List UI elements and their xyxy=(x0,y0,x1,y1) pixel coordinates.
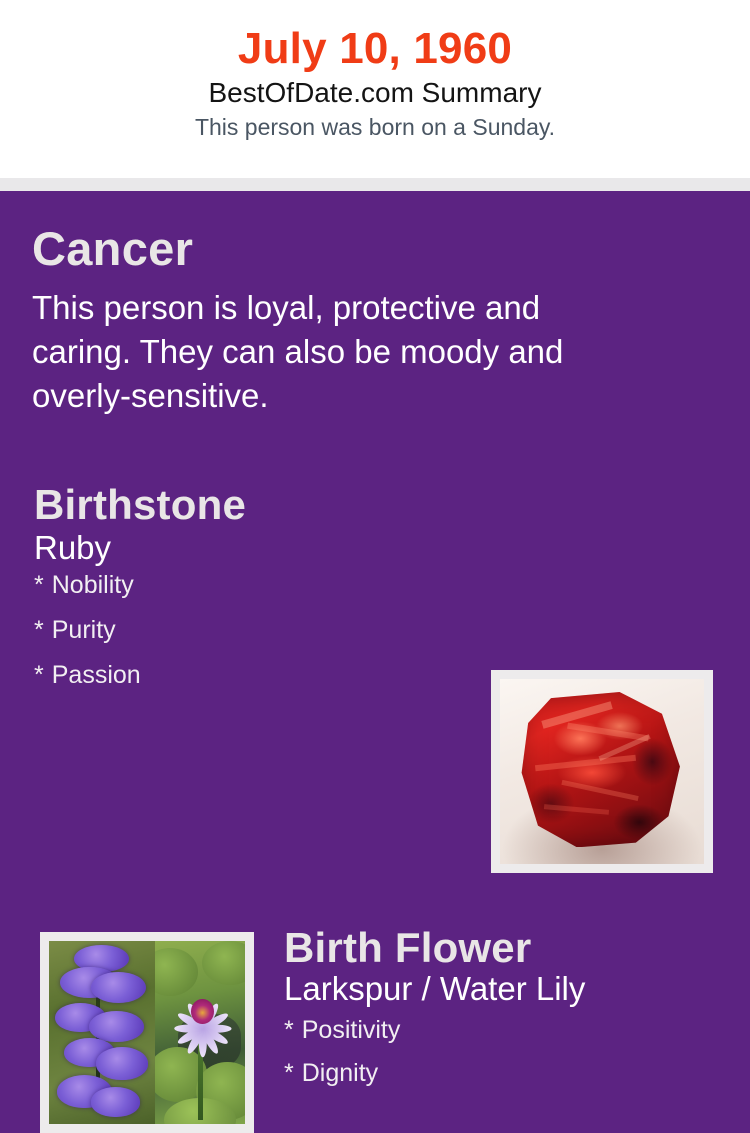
trait-label: Passion xyxy=(52,661,141,689)
ruby-facet xyxy=(535,755,636,772)
birthstone-heading: Birthstone xyxy=(34,484,464,526)
header-divider xyxy=(0,178,750,191)
page-header: July 10, 1960 BestOfDate.com Summary Thi… xyxy=(0,0,750,178)
birthstone-name: Ruby xyxy=(34,530,464,567)
site-summary-label: BestOfDate.com Summary xyxy=(0,78,750,109)
larkspur-blossom xyxy=(91,972,146,1003)
water-lily-photo-half xyxy=(155,941,245,1124)
bullet-asterisk-icon: * xyxy=(34,571,44,599)
list-item: *Purity xyxy=(34,618,464,643)
birth-flower-heading: Birth Flower xyxy=(284,927,734,969)
water-lily-bloom xyxy=(175,981,231,1043)
trait-label: Purity xyxy=(52,616,116,644)
lily-center xyxy=(191,999,213,1024)
born-day-statement: This person was born on a Sunday. xyxy=(0,115,750,140)
birth-flower-section: Birth Flower Larkspur / Water Lily *Posi… xyxy=(284,927,734,1104)
larkspur-blossom xyxy=(96,1047,149,1080)
ruby-facet xyxy=(544,804,609,814)
larkspur-photo-half xyxy=(49,941,155,1124)
trait-label: Dignity xyxy=(302,1059,378,1087)
larkspur-and-water-lily-photo xyxy=(49,941,245,1124)
ruby-facet xyxy=(561,780,639,802)
trait-label: Positivity xyxy=(302,1016,401,1044)
zodiac-sign-name: Cancer xyxy=(32,225,722,272)
bullet-asterisk-icon: * xyxy=(34,616,44,644)
bullet-asterisk-icon: * xyxy=(34,661,44,689)
list-item: *Passion xyxy=(34,663,464,688)
larkspur-blossom xyxy=(91,1087,140,1116)
page-title-date: July 10, 1960 xyxy=(0,26,750,72)
birthstone-trait-list: *Nobility *Purity *Passion xyxy=(34,573,464,688)
ruby-gemstone-photo xyxy=(500,679,704,864)
content-body: Cancer This person is loyal, protective … xyxy=(0,191,750,1000)
trait-label: Nobility xyxy=(52,571,134,599)
list-item: *Positivity xyxy=(284,1018,734,1043)
list-item: *Nobility xyxy=(34,573,464,598)
lily-pad xyxy=(202,941,245,985)
birthstone-section: Birthstone Ruby *Nobility *Purity *Passi… xyxy=(34,484,464,708)
birthstone-image-frame xyxy=(491,670,713,873)
list-item: *Dignity xyxy=(284,1061,734,1086)
zodiac-section: Cancer This person is loyal, protective … xyxy=(0,191,750,419)
bullet-asterisk-icon: * xyxy=(284,1016,294,1044)
ruby-crystal-shape xyxy=(518,692,681,847)
birth-flower-trait-list: *Positivity *Dignity xyxy=(284,1018,734,1086)
birth-flower-image-frame xyxy=(40,932,254,1133)
zodiac-description: This person is loyal, protective and car… xyxy=(32,286,642,419)
bullet-asterisk-icon: * xyxy=(284,1059,294,1087)
larkspur-blossom xyxy=(89,1011,144,1042)
birth-flower-name: Larkspur / Water Lily xyxy=(284,971,734,1008)
